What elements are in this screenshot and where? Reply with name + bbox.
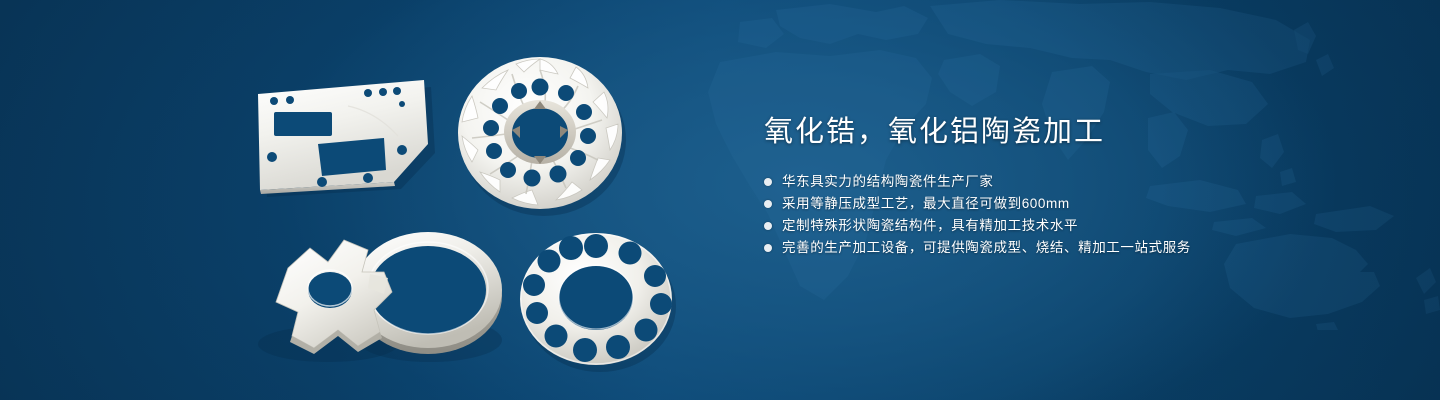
feature-text: 完善的生产加工设备，可提供陶瓷成型、烧结、精加工一站式服务 [782,237,1191,259]
banner-headline: 氧化锆，氧化铝陶瓷加工 [764,112,1384,152]
feature-list-item: 华东具实力的结构陶瓷件生产厂家 [764,171,1384,193]
product-banner: 氧化锆，氧化铝陶瓷加工 华东具实力的结构陶瓷件生产厂家 采用等静压成型工艺，最大… [0,0,1440,400]
ceramic-plate-with-cutouts [252,78,434,196]
bullet-dot-icon [764,244,772,252]
product-image-group [0,0,740,400]
bullet-dot-icon [764,222,772,230]
ceramic-perforated-disc [512,228,680,370]
feature-text: 定制特殊形状陶瓷结构件，具有精加工技术水平 [782,215,1078,237]
feature-list-item: 定制特殊形状陶瓷结构件，具有精加工技术水平 [764,215,1384,237]
feature-text: 采用等静压成型工艺，最大直径可做到600mm [782,193,1070,215]
feature-list: 华东具实力的结构陶瓷件生产厂家 采用等静压成型工艺，最大直径可做到600mm 定… [764,171,1384,259]
feature-list-item: 完善的生产加工设备，可提供陶瓷成型、烧结、精加工一站式服务 [764,237,1384,259]
banner-copy: 氧化锆，氧化铝陶瓷加工 华东具实力的结构陶瓷件生产厂家 采用等静压成型工艺，最大… [764,112,1384,259]
feature-text: 华东具实力的结构陶瓷件生产厂家 [782,171,994,193]
ceramic-cross-piece-and-ring [252,228,512,368]
bullet-dot-icon [764,178,772,186]
bullet-dot-icon [764,200,772,208]
ceramic-impeller-disc [452,52,628,214]
feature-list-item: 采用等静压成型工艺，最大直径可做到600mm [764,193,1384,215]
